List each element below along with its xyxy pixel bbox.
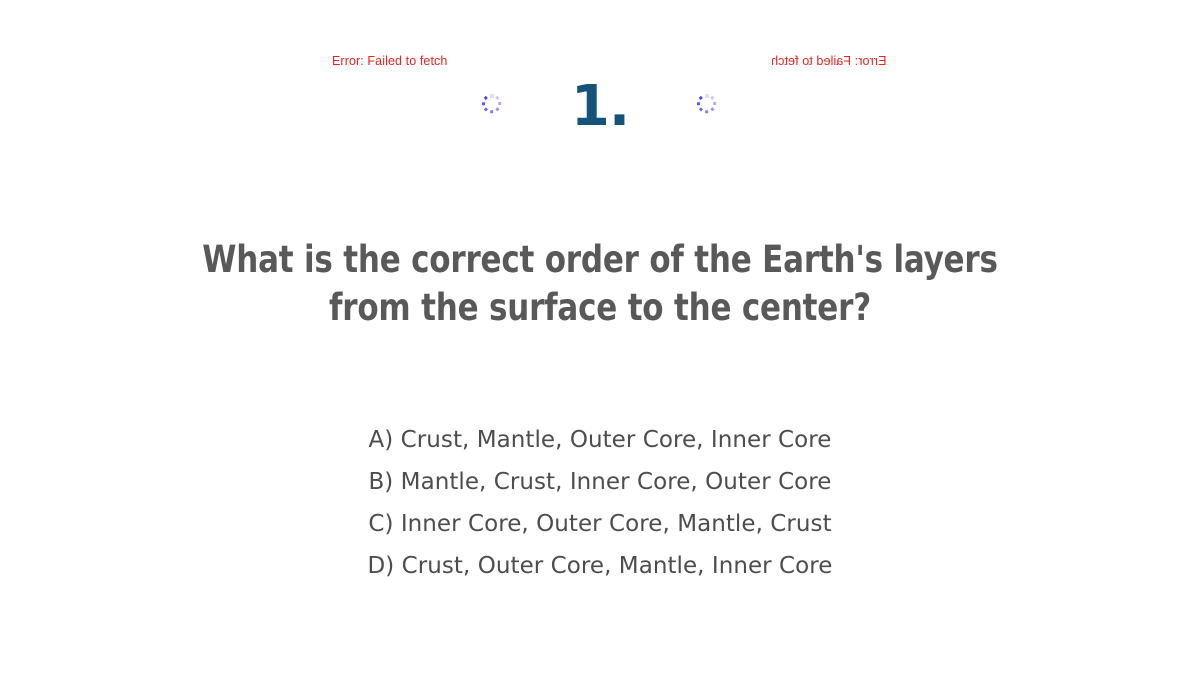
error-message-right-mirrored: Error: Failed to fetch [771,50,886,72]
question-header: 1. [0,78,1200,140]
answer-option-c[interactable]: C) Inner Core, Outer Core, Mantle, Crust [0,503,1200,545]
loading-spinner-icon-right [696,93,718,115]
error-banner-row: Error: Failed to fetch Error: Failed to … [0,50,1200,72]
answer-options-list: A) Crust, Mantle, Outer Core, Inner Core… [0,419,1200,587]
error-message-left: Error: Failed to fetch [332,50,447,72]
answer-option-b[interactable]: B) Mantle, Crust, Inner Core, Outer Core [0,461,1200,503]
question-text: What is the correct order of the Earth's… [182,236,1019,332]
answer-option-a[interactable]: A) Crust, Mantle, Outer Core, Inner Core [0,419,1200,461]
question-number: 1. [0,78,1200,136]
answer-option-d[interactable]: D) Crust, Outer Core, Mantle, Inner Core [0,545,1200,587]
quiz-slide: Error: Failed to fetch Error: Failed to … [0,0,1200,675]
